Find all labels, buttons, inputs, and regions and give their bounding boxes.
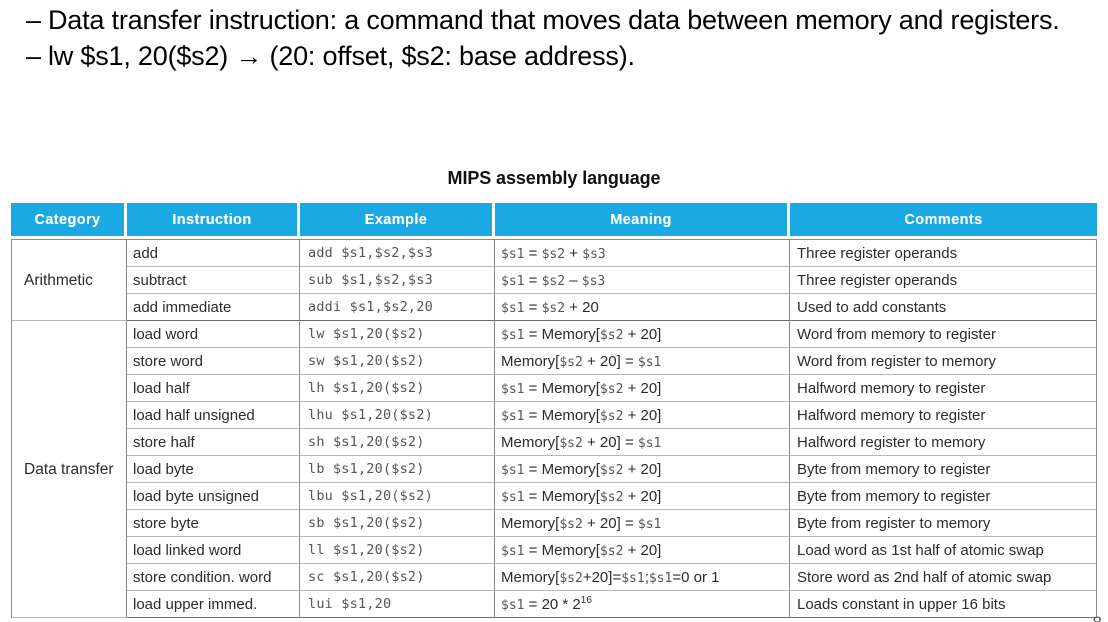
register-token: $s3 xyxy=(582,247,605,262)
column-header-category: Category xyxy=(11,203,127,239)
comments-cell: Word from register to memory xyxy=(790,348,1097,375)
meaning-cell: $s1 = Memory[$s2 + 20] xyxy=(495,375,790,402)
register-token: $s2 xyxy=(600,382,623,397)
table-row: add immediateaddi $s1,$s2,20$s1 = $s2 + … xyxy=(11,294,1097,321)
comments-cell: Halfword memory to register xyxy=(790,402,1097,429)
example-cell: lw $s1,20($s2) xyxy=(300,321,495,348)
example-cell: lb $s1,20($s2) xyxy=(300,456,495,483)
instruction-cell: store condition. word xyxy=(127,564,300,591)
bullet-dash-icon: – xyxy=(26,2,48,38)
table-row: load byte unsignedlbu $s1,20($s2)$s1 = M… xyxy=(11,483,1097,510)
meaning-cell: Memory[$s2 + 20] = $s1 xyxy=(495,510,790,537)
register-token: $s2 xyxy=(542,301,565,316)
comments-cell: Halfword memory to register xyxy=(790,375,1097,402)
table-row: store wordsw $s1,20($s2)Memory[$s2 + 20]… xyxy=(11,348,1097,375)
register-token: $s1 xyxy=(501,490,524,505)
table-row: load half unsignedlhu $s1,20($s2)$s1 = M… xyxy=(11,402,1097,429)
bullet-dash-icon: – xyxy=(26,38,48,74)
example-cell: sh $s1,20($s2) xyxy=(300,429,495,456)
instruction-cell: load word xyxy=(127,321,300,348)
table-row: load upper immed.lui $s1,20$s1 = 20 * 21… xyxy=(11,591,1097,618)
table-row: load halflh $s1,20($s2)$s1 = Memory[$s2 … xyxy=(11,375,1097,402)
table-body: Arithmeticaddadd $s1,$s2,$s3$s1 = $s2 + … xyxy=(11,239,1097,618)
example-cell: addi $s1,$s2,20 xyxy=(300,294,495,321)
register-token: $s1 xyxy=(638,517,661,532)
table-row: Arithmeticaddadd $s1,$s2,$s3$s1 = $s2 + … xyxy=(11,239,1097,267)
instruction-cell: add xyxy=(127,239,300,267)
instruction-cell: load byte xyxy=(127,456,300,483)
example-cell: sw $s1,20($s2) xyxy=(300,348,495,375)
bullet-list: – Data transfer instruction: a command t… xyxy=(26,2,1086,74)
register-token: $s1 xyxy=(621,571,644,586)
register-token: $s2 xyxy=(559,355,582,370)
instruction-cell: store half xyxy=(127,429,300,456)
instruction-cell: subtract xyxy=(127,267,300,294)
meaning-cell: Memory[$s2 + 20] = $s1 xyxy=(495,348,790,375)
bullet-text: Data transfer instruction: a command tha… xyxy=(48,2,1086,38)
instruction-cell: load upper immed. xyxy=(127,591,300,618)
meaning-cell: $s1 = 20 * 216 xyxy=(495,591,790,618)
register-token: $s2 xyxy=(600,490,623,505)
register-token: $s1 xyxy=(501,301,524,316)
register-token: $s1 xyxy=(501,382,524,397)
example-cell: lhu $s1,20($s2) xyxy=(300,402,495,429)
register-token: $s1 xyxy=(501,274,524,289)
category-cell: Data transfer xyxy=(11,321,127,618)
comments-cell: Store word as 2nd half of atomic swap xyxy=(790,564,1097,591)
example-cell: sb $s1,20($s2) xyxy=(300,510,495,537)
register-token: $s2 xyxy=(600,463,623,478)
example-cell: ll $s1,20($s2) xyxy=(300,537,495,564)
page-number: 8 xyxy=(1080,614,1102,622)
comments-cell: Loads constant in upper 16 bits xyxy=(790,591,1097,618)
instruction-cell: load half xyxy=(127,375,300,402)
instruction-cell: load half unsigned xyxy=(127,402,300,429)
meaning-cell: $s1 = $s2 + $s3 xyxy=(495,239,790,267)
column-header-meaning: Meaning xyxy=(495,203,790,239)
comments-cell: Used to add constants xyxy=(790,294,1097,321)
table-row: store condition. wordsc $s1,20($s2)Memor… xyxy=(11,564,1097,591)
bullet-text: lw $s1, 20($s2) → (20: offset, $s2: base… xyxy=(48,38,1086,74)
example-cell: sc $s1,20($s2) xyxy=(300,564,495,591)
meaning-cell: $s1 = Memory[$s2 + 20] xyxy=(495,321,790,348)
table-row: subtractsub $s1,$s2,$s3$s1 = $s2 – $s3Th… xyxy=(11,267,1097,294)
bullet-item: – Data transfer instruction: a command t… xyxy=(26,2,1086,38)
instruction-cell: store byte xyxy=(127,510,300,537)
bullet-item: – lw $s1, 20($s2) → (20: offset, $s2: ba… xyxy=(26,38,1086,74)
register-token: $s1 xyxy=(501,409,524,424)
register-token: $s1 xyxy=(501,328,524,343)
instruction-cell: store word xyxy=(127,348,300,375)
register-token: $s2 xyxy=(600,409,623,424)
table-row: load linked wordll $s1,20($s2)$s1 = Memo… xyxy=(11,537,1097,564)
table-row: Data transferload wordlw $s1,20($s2)$s1 … xyxy=(11,321,1097,348)
comments-cell: Byte from memory to register xyxy=(790,483,1097,510)
register-token: $s1 xyxy=(501,247,524,262)
register-token: $s2 xyxy=(600,544,623,559)
table-row: store halfsh $s1,20($s2)Memory[$s2 + 20]… xyxy=(11,429,1097,456)
column-header-instruction: Instruction xyxy=(127,203,300,239)
register-token: $s1 xyxy=(501,544,524,559)
mips-instruction-table: Category Instruction Example Meaning Com… xyxy=(11,203,1097,618)
register-token: $s1 xyxy=(649,571,672,586)
register-token: $s1 xyxy=(501,598,524,613)
comments-cell: Word from memory to register xyxy=(790,321,1097,348)
table-row: store bytesb $s1,20($s2)Memory[$s2 + 20]… xyxy=(11,510,1097,537)
meaning-cell: $s1 = $s2 + 20 xyxy=(495,294,790,321)
column-header-example: Example xyxy=(300,203,495,239)
example-cell: lui $s1,20 xyxy=(300,591,495,618)
register-token: $s2 xyxy=(559,517,582,532)
meaning-cell: $s1 = Memory[$s2 + 20] xyxy=(495,402,790,429)
register-token: $s1 xyxy=(501,463,524,478)
register-token: $s2 xyxy=(542,274,565,289)
example-cell: lh $s1,20($s2) xyxy=(300,375,495,402)
instruction-cell: add immediate xyxy=(127,294,300,321)
meaning-cell: $s1 = Memory[$s2 + 20] xyxy=(495,456,790,483)
meaning-cell: $s1 = $s2 – $s3 xyxy=(495,267,790,294)
example-cell: add $s1,$s2,$s3 xyxy=(300,239,495,267)
meaning-cell: Memory[$s2+20]=$s1;$s1=0 or 1 xyxy=(495,564,790,591)
instruction-cell: load linked word xyxy=(127,537,300,564)
comments-cell: Byte from memory to register xyxy=(790,456,1097,483)
register-token: $s1 xyxy=(638,355,661,370)
table-header-row: Category Instruction Example Meaning Com… xyxy=(11,203,1097,239)
exponent: 16 xyxy=(581,595,592,606)
comments-cell: Three register operands xyxy=(790,267,1097,294)
comments-cell: Halfword register to memory xyxy=(790,429,1097,456)
example-cell: lbu $s1,20($s2) xyxy=(300,483,495,510)
comments-cell: Byte from register to memory xyxy=(790,510,1097,537)
register-token: $s1 xyxy=(638,436,661,451)
column-header-comments: Comments xyxy=(790,203,1097,239)
register-token: $s2 xyxy=(559,436,582,451)
table-title: MIPS assembly language xyxy=(0,168,1108,189)
meaning-cell: $s1 = Memory[$s2 + 20] xyxy=(495,483,790,510)
meaning-cell: $s1 = Memory[$s2 + 20] xyxy=(495,537,790,564)
meaning-cell: Memory[$s2 + 20] = $s1 xyxy=(495,429,790,456)
register-token: $s2 xyxy=(559,571,582,586)
example-cell: sub $s1,$s2,$s3 xyxy=(300,267,495,294)
comments-cell: Three register operands xyxy=(790,239,1097,267)
category-cell: Arithmetic xyxy=(11,239,127,321)
register-token: $s2 xyxy=(542,247,565,262)
table-row: load bytelb $s1,20($s2)$s1 = Memory[$s2 … xyxy=(11,456,1097,483)
register-token: $s2 xyxy=(600,328,623,343)
instruction-cell: load byte unsigned xyxy=(127,483,300,510)
register-token: $s3 xyxy=(582,274,605,289)
comments-cell: Load word as 1st half of atomic swap xyxy=(790,537,1097,564)
